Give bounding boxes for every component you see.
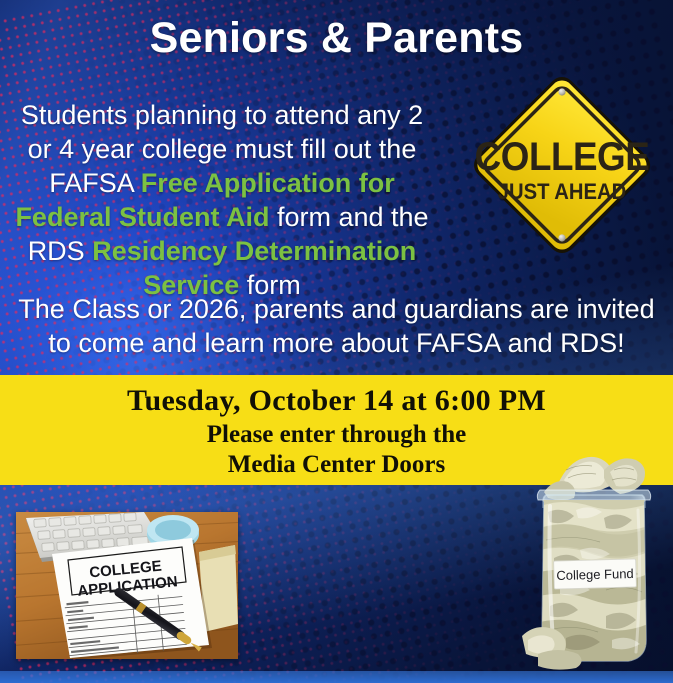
- bottom-accent-strip: [0, 671, 673, 683]
- college-application-photo: COLLEGE APPLICATION: [16, 512, 238, 659]
- paragraph-fafsa-rds: Students planning to attend any 2 or 4 y…: [8, 98, 436, 302]
- event-datetime: Tuesday, October 14 at 6:00 PM: [0, 382, 673, 420]
- road-sign-line-2: JUST AHEAD: [498, 180, 626, 204]
- page-title: Seniors & Parents: [0, 12, 673, 64]
- road-sign-icon: COLLEGE JUST AHEAD: [462, 65, 662, 265]
- paragraph-invitation: The Class or 2026, parents and guardians…: [8, 292, 665, 360]
- flyer-canvas: Seniors & Parents Students planning to a…: [0, 0, 673, 683]
- college-just-ahead-sign: COLLEGE JUST AHEAD: [462, 65, 662, 265]
- jar-label: College Fund: [554, 559, 637, 589]
- college-fund-jar: College Fund: [520, 440, 668, 672]
- college-application-image: COLLEGE APPLICATION: [16, 512, 238, 659]
- money-jar-image: College Fund: [520, 440, 668, 672]
- jar-label-text: College Fund: [556, 566, 634, 583]
- road-sign-line-1: COLLEGE: [475, 135, 650, 180]
